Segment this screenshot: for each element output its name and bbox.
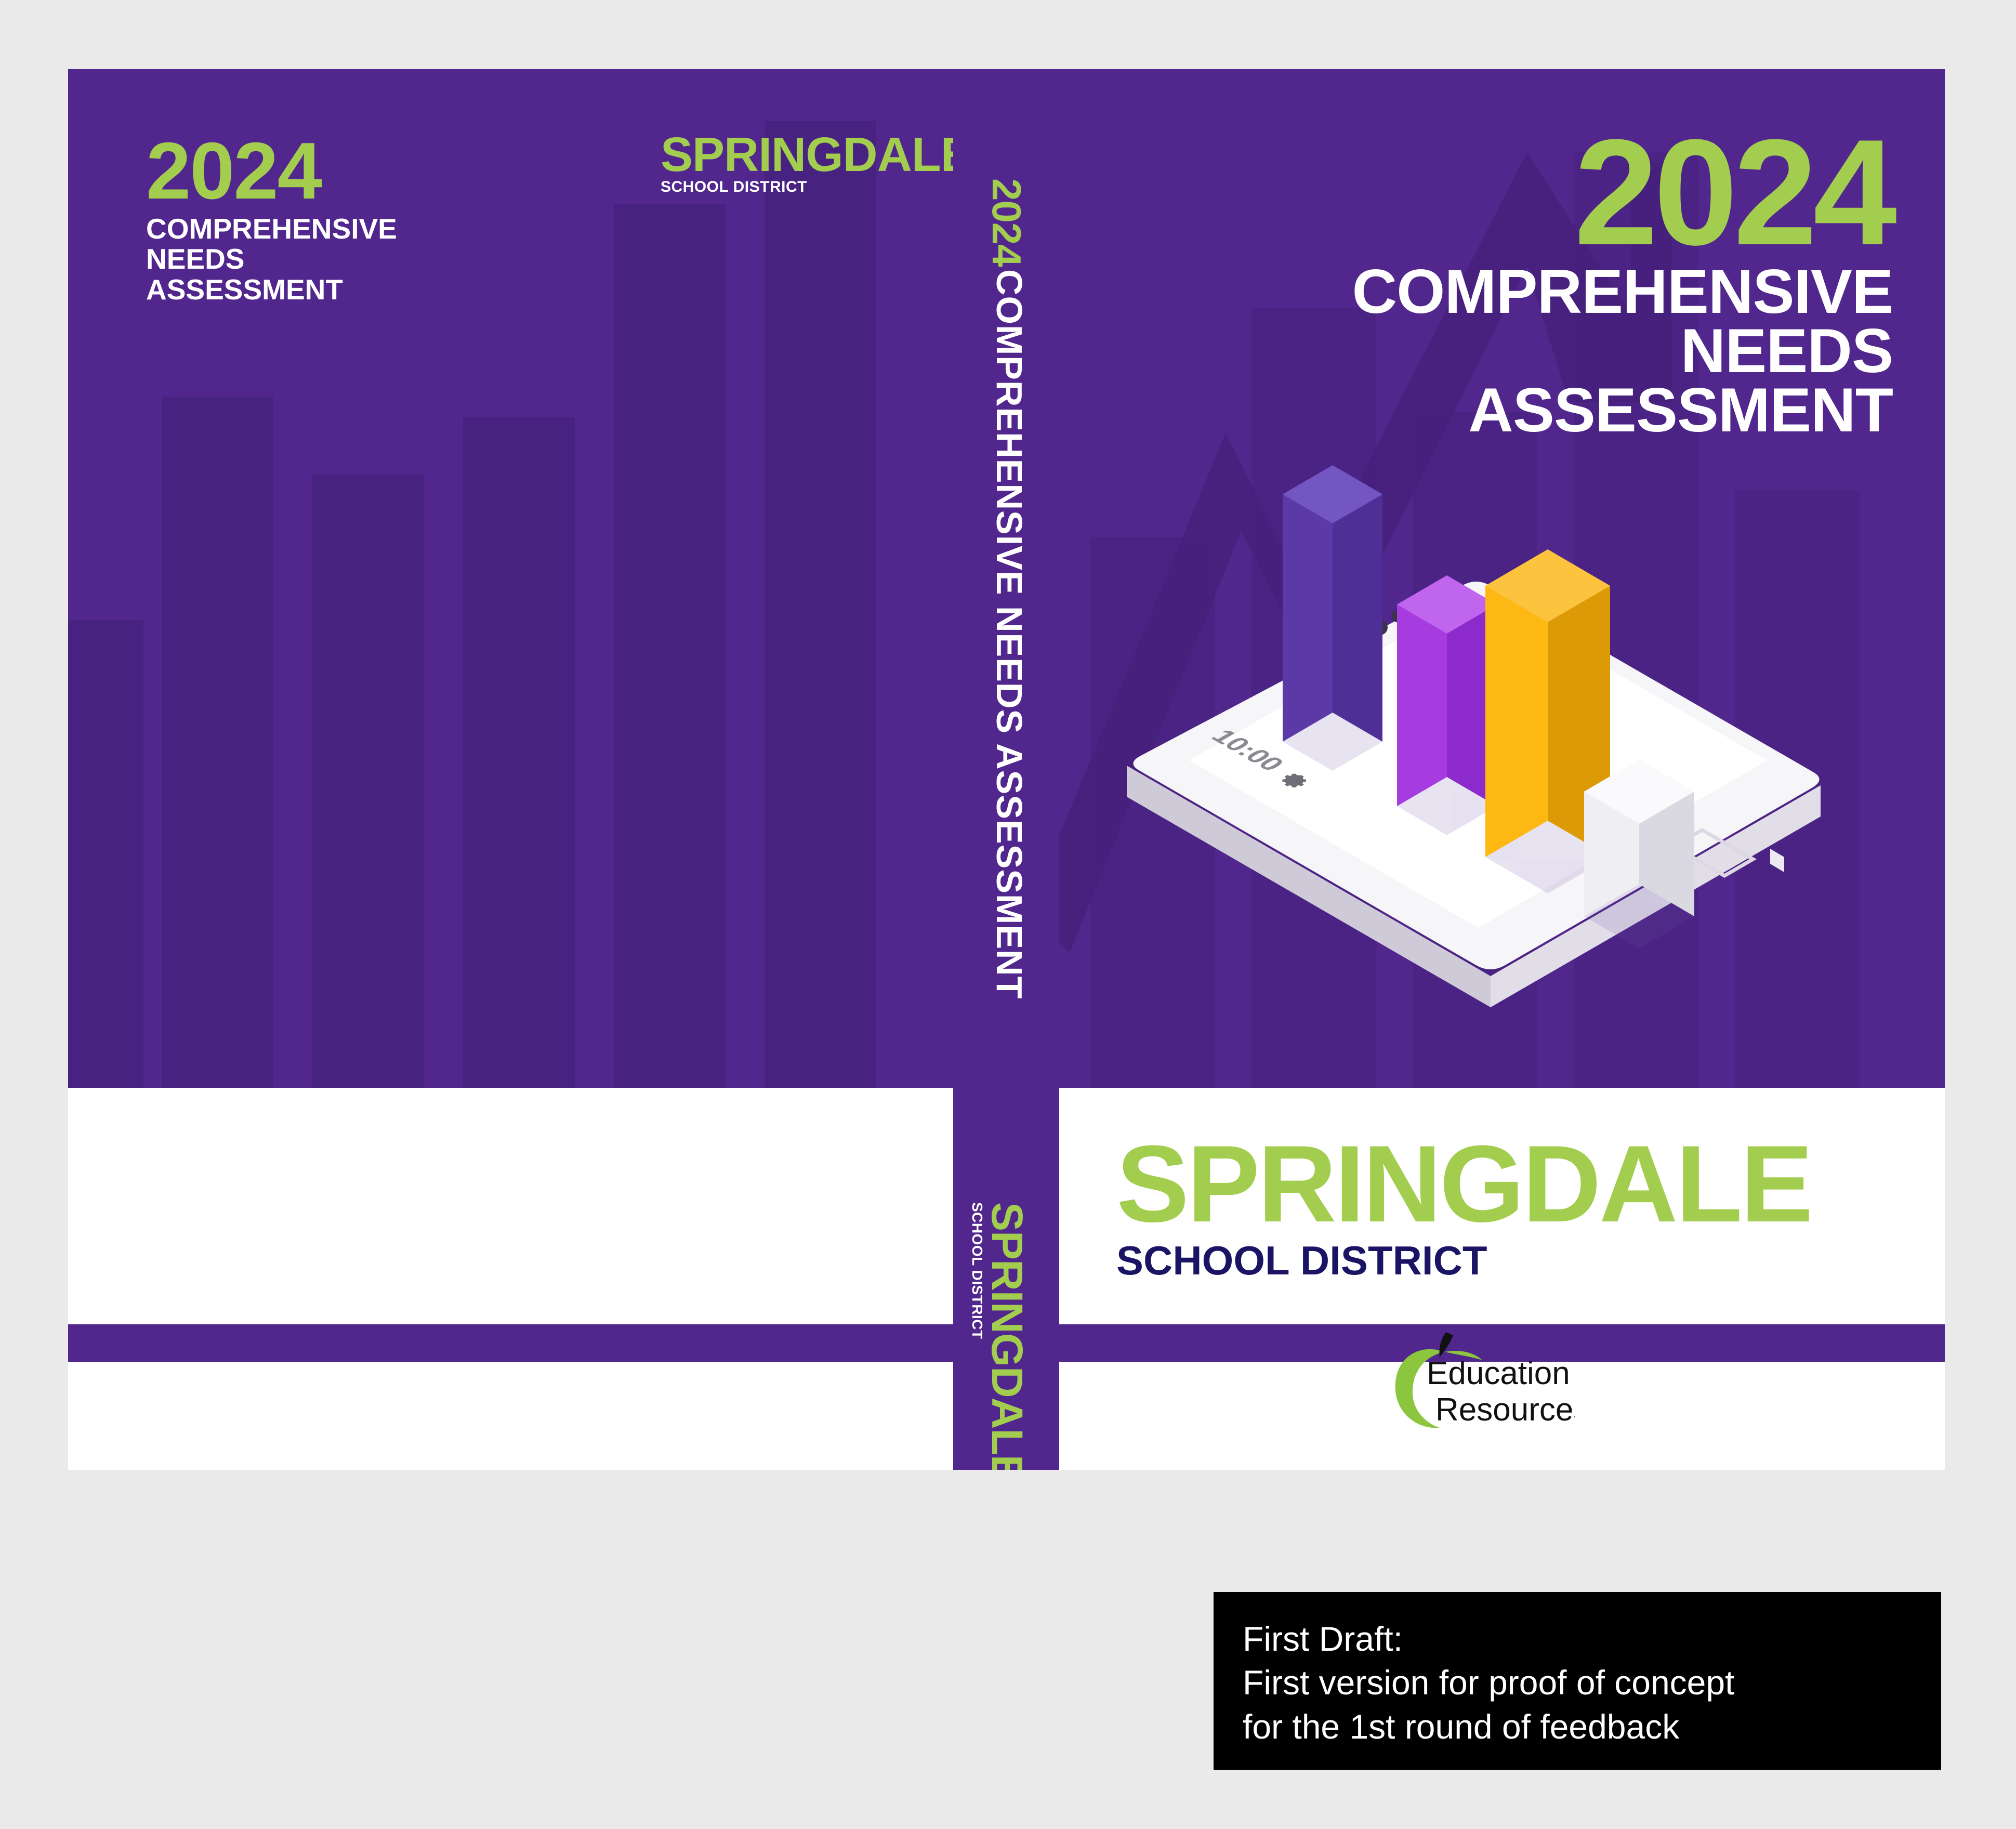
bg-bar: [312, 475, 424, 1088]
publisher-line-1: Education: [1427, 1356, 1570, 1391]
draft-caption-box: First Draft: First version for proof of …: [1214, 1592, 1941, 1770]
spine-year: 2024: [983, 178, 1030, 267]
back-white-panel-upper: [68, 1088, 953, 1324]
bg-bar: [463, 417, 575, 1088]
back-title-line-2: NEEDS: [146, 244, 562, 274]
front-cover-panel: 2024 COMPREHENSIVE NEEDS ASSESSMENT: [1059, 69, 1945, 1470]
education-resources-logo: Education Resources: [1367, 1328, 1575, 1437]
front-title-line-3: ASSESSMENT: [1165, 380, 1893, 440]
isometric-phone-bar-chart-illustration: 10:00: [1127, 433, 1854, 1083]
front-logo-name: SPRINGDALE: [1116, 1135, 1811, 1233]
back-logo-name: SPRINGDALE: [661, 131, 953, 177]
publisher-line-2: Resources: [1435, 1392, 1575, 1428]
spine-panel: 2024 COMPREHENSIVE NEEDS ASSESSMENT SPRI…: [953, 69, 1059, 1470]
back-title: COMPREHENSIVE NEEDS ASSESSMENT: [146, 214, 562, 306]
chart-bar-1: [1283, 465, 1382, 742]
spine-title: COMPREHENSIVE NEEDS ASSESSMENT: [989, 269, 1030, 999]
caption-line-3: for the 1st round of feedback: [1243, 1705, 1912, 1748]
front-title-line-1: COMPREHENSIVE: [1165, 262, 1893, 321]
back-cover-panel: 2024 COMPREHENSIVE NEEDS ASSESSMENT SPRI…: [68, 69, 953, 1470]
front-cover-district-logo: SPRINGDALE SCHOOL DISTRICT: [1116, 1135, 1811, 1281]
front-cover-title-block: 2024 COMPREHENSIVE NEEDS ASSESSMENT: [1165, 126, 1893, 440]
caption-line-2: First version for proof of concept: [1243, 1661, 1912, 1704]
bg-bar: [614, 204, 726, 1088]
back-purple-divider: [68, 1324, 953, 1362]
front-title-line-2: NEEDS: [1165, 321, 1893, 380]
back-white-panel-lower: [68, 1362, 953, 1470]
spine-logo-subtitle: SCHOOL DISTRICT: [969, 1202, 985, 1339]
back-cover-title-block: 2024 COMPREHENSIVE NEEDS ASSESSMENT: [146, 134, 562, 305]
back-cover-district-logo: SPRINGDALE SCHOOL DISTRICT: [661, 131, 953, 195]
chart-bar-2: [1397, 575, 1497, 806]
bg-bar: [68, 620, 143, 1088]
caption-line-1: First Draft:: [1243, 1617, 1912, 1661]
spine-logo-name: SPRINGDALE: [982, 1202, 1032, 1470]
back-title-line-3: ASSESSMENT: [146, 274, 562, 305]
back-title-line-1: COMPREHENSIVE: [146, 214, 562, 244]
back-year: 2024: [146, 134, 562, 208]
bg-bar: [765, 121, 876, 1088]
front-year: 2024: [1165, 126, 1893, 259]
book-jacket-spread: 2024 COMPREHENSIVE NEEDS ASSESSMENT SPRI…: [68, 69, 1945, 1470]
back-logo-subtitle: SCHOOL DISTRICT: [661, 179, 953, 195]
front-logo-subtitle: SCHOOL DISTRICT: [1116, 1240, 1811, 1281]
bg-bar: [162, 397, 273, 1088]
